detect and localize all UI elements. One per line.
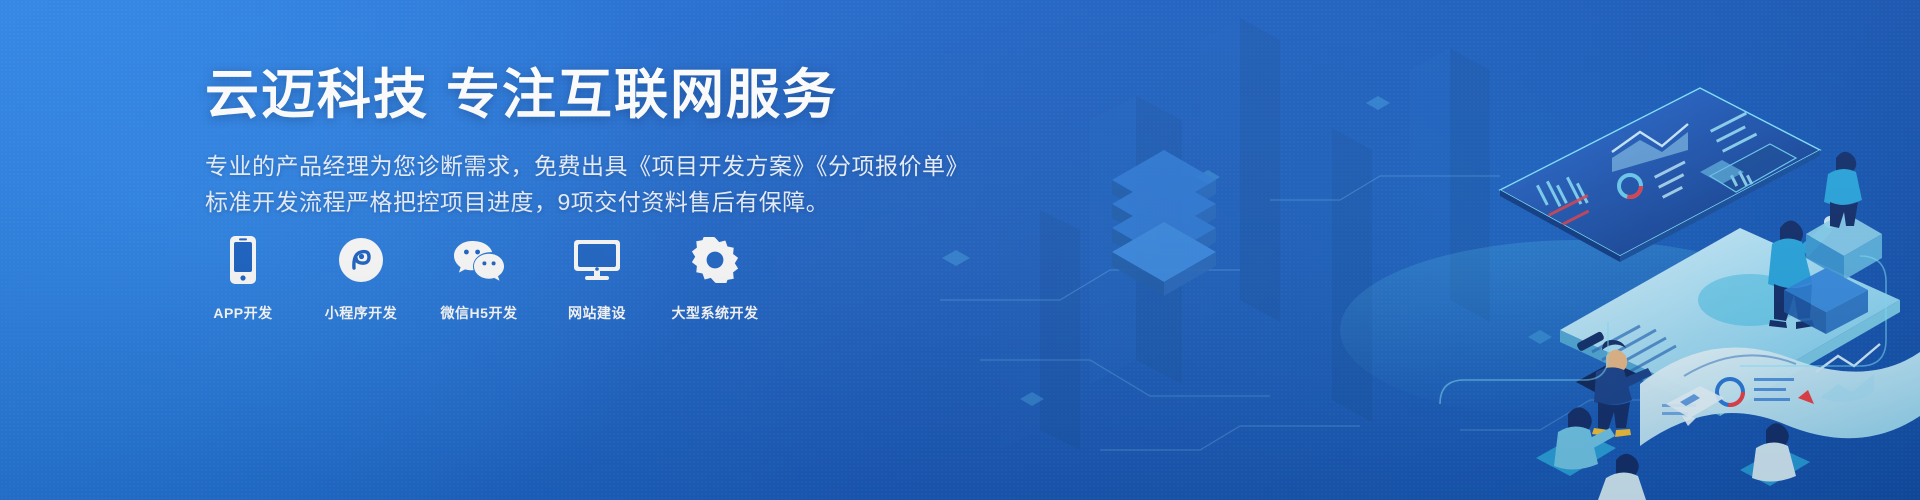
page-title: 云迈科技 专注互联网服务	[205, 64, 965, 126]
service-item-wechat-h5[interactable]: 微信H5开发	[441, 232, 517, 322]
service-item-mini-program[interactable]: 小程序开发	[323, 232, 399, 322]
monitor-icon	[572, 232, 622, 288]
service-label-website: 网站建设	[568, 304, 626, 322]
service-label-large-system: 大型系统开发	[672, 304, 759, 322]
illustration-container	[940, 0, 1920, 500]
service-label-wechat-h5: 微信H5开发	[441, 304, 518, 322]
two-people-group	[1536, 407, 1646, 500]
wechat-icon	[453, 232, 505, 288]
gear-icon	[692, 232, 738, 288]
subtitle-line-1: 专业的产品经理为您诊断需求，免费出具《项目开发方案》《分项报价单》	[205, 148, 965, 184]
copy-block: 云迈科技 专注互联网服务 专业的产品经理为您诊断需求，免费出具《项目开发方案》《…	[205, 64, 965, 220]
subtitle-line-2: 标准开发流程严格把控项目进度，9项交付资料售后有保障。	[205, 184, 965, 220]
hero-banner: 云迈科技 专注互联网服务 专业的产品经理为您诊断需求，免费出具《项目开发方案》《…	[0, 0, 1920, 500]
service-item-app[interactable]: APP开发	[205, 232, 281, 322]
service-label-mini-program: 小程序开发	[325, 304, 398, 322]
service-list: APP开发 小程序开发	[205, 232, 753, 322]
subtitle-group: 专业的产品经理为您诊断需求，免费出具《项目开发方案》《分项报价单》 标准开发流程…	[205, 148, 965, 220]
mini-program-icon	[338, 232, 384, 288]
person-on-cube	[1740, 423, 1810, 486]
dashboard-screen	[1500, 88, 1820, 262]
service-label-app: APP开发	[213, 304, 272, 322]
server-stack	[1112, 150, 1216, 296]
service-item-website[interactable]: 网站建设	[559, 232, 635, 322]
mobile-phone-icon	[226, 232, 260, 288]
service-item-large-system[interactable]: 大型系统开发	[677, 232, 753, 322]
